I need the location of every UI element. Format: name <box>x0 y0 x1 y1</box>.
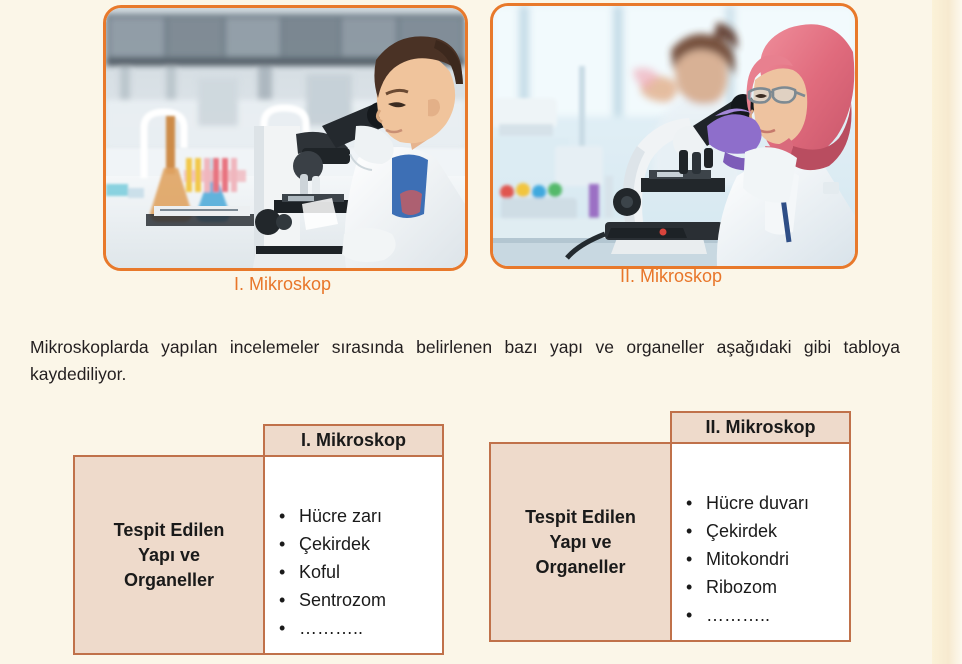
figure-photo-microscope-2 <box>490 3 858 269</box>
table-2-label-line-1: Tespit Edilen <box>525 507 636 527</box>
list-item: Ribozom <box>672 573 849 601</box>
figure-photo-microscope-1 <box>103 5 468 271</box>
figure-2-caption: II. Mikroskop <box>490 266 852 287</box>
table-2-items-cell: Hücre duvarı Çekirdek Mitokondri Ribozom… <box>670 442 851 642</box>
list-item: Koful <box>265 558 442 586</box>
table-1-label-line-2: Yapı ve <box>138 545 200 565</box>
table-1-label-line-1: Tespit Edilen <box>114 520 225 540</box>
lab-scene-female-illustration <box>493 6 855 266</box>
table-1-items-cell: Hücre zarı Çekirdek Koful Sentrozom ……….… <box>263 455 444 655</box>
page-edge-strip <box>932 0 962 664</box>
table-1-row-label: Tespit Edilen Yapı ve Organeller <box>73 455 265 655</box>
lab-scene-male-illustration <box>106 8 465 268</box>
list-item: Çekirdek <box>672 517 849 545</box>
table-1-label-line-3: Organeller <box>124 570 214 590</box>
photo-2-content <box>493 6 855 266</box>
figure-1-caption: I. Mikroskop <box>103 274 462 295</box>
table-2-label-line-2: Yapı ve <box>549 532 611 552</box>
table-2-row-label: Tespit Edilen Yapı ve Organeller <box>489 442 672 642</box>
list-item: Sentrozom <box>265 586 442 614</box>
list-item: Hücre zarı <box>265 502 442 530</box>
list-item: Hücre duvarı <box>672 489 849 517</box>
table-2-item-list: Hücre duvarı Çekirdek Mitokondri Ribozom… <box>672 489 849 629</box>
list-item: Mitokondri <box>672 545 849 573</box>
table-1-item-list: Hücre zarı Çekirdek Koful Sentrozom ……….… <box>265 502 442 642</box>
list-item: ……….. <box>265 614 442 642</box>
table-1-header: I. Mikroskop <box>263 424 444 457</box>
list-item: ……….. <box>672 601 849 629</box>
list-item: Çekirdek <box>265 530 442 558</box>
intro-paragraph: Mikroskoplarda yapılan incelemeler sıras… <box>30 334 900 388</box>
table-2-header: II. Mikroskop <box>670 411 851 444</box>
table-2-label-line-3: Organeller <box>535 557 625 577</box>
photo-1-content <box>106 8 465 268</box>
